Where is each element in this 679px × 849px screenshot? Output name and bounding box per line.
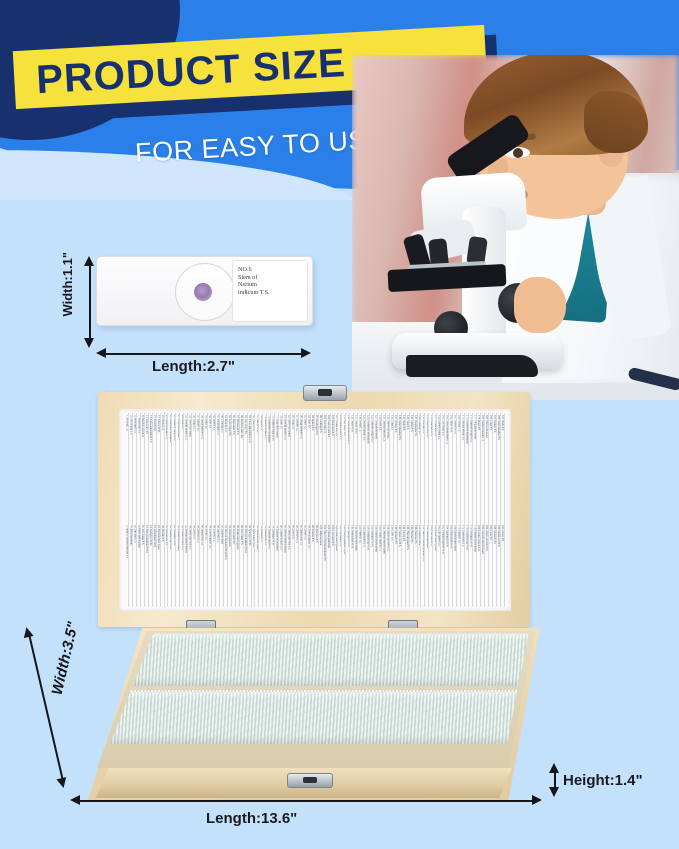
lid-list-entry: 120. Planaria T.S. [358,525,361,607]
lid-list-entry-text: 124. Housefly leg W.M. [366,525,369,550]
slide-label-line-2: Stem of [238,274,303,282]
lid-list-entry-text: 121. Ascaris female T.S. [362,415,365,440]
lid-list-entry-text: 119. Hydra L.S. [358,415,361,432]
slide-row-1 [88,634,540,686]
lid-list-entry: 73. Honeybee mouthparts [267,415,270,509]
lid-list-entry: 131. Skeletal muscle L.S. [382,415,385,509]
product-size-infographic: PRODUCT SIZE FOR EASY TO USE [0,0,679,849]
lid-list-entry: 117. Mucor W.M. [354,415,357,509]
lid-list-entry: 172. Earthworm T.S. [461,525,464,607]
lid-list-entry-text: 42. Ovary T.S. [204,525,207,540]
lid-list-entry: 23. Honeybee mouthparts [168,415,171,509]
lid-list-entry: 53. Leaf of pine T.S. [228,415,231,509]
lid-list-entry: 61. Lily ovary T.S. [244,415,247,509]
lid-list-entry-text: 26. Mosquito W.M. [172,525,175,546]
lid-list-entry: 90. Spinal cord T.S. [299,525,302,607]
lid-list-entry-text: 171. Ascaris female T.S. [461,415,464,440]
lid-list-entry: 96. Trachea T.S. [311,525,314,607]
lid-list-entry-text: 63. Moss antheridium L.S. [248,415,251,443]
lid-list-entry: 24. Housefly leg W.M. [168,525,171,607]
lid-list-entry: 149. Cartilage T.S. [418,415,421,509]
lid-list-entry: 5. Bean stem T.S. [133,415,136,509]
lid-list-entry-text: 137. Kidney T.S. [394,415,397,433]
lid-list-entry: 164. Spirogyra W.M. [445,525,448,607]
lid-list-entry: 58. Potato starch grains [236,525,239,607]
lid-list-entry: 44. Thyroid gland T.S. [208,525,211,607]
lid-list-entry: 98. Pancreas T.S. [315,525,318,607]
lid-list-entry-text: 74. Housefly leg W.M. [267,525,270,549]
lid-list-entry: 178. Human blood smear [473,525,476,607]
box-length-label: Length:13.6" [206,810,297,827]
lid-list-entry: 51. Root tip L.S. [224,415,227,509]
lid-list-entry-text: 162. Fern prothallium W.M. [441,525,444,555]
lid-list-entry: 112. Fern prothallium W.M. [342,525,345,607]
lid-list-entry: 60. Lily anther T.S. [240,525,243,607]
lid-list-entry: 127. Frog blood smear [374,415,377,509]
lid-list-entry: 76. Mosquito W.M. [271,525,274,607]
lid-list-entry: 52. Stem of Nerium indicum T.S. [224,525,227,607]
lid-list-entry-text: 157. Wheat leaf T.S. [433,415,436,436]
lid-list-entry: 59. Bamboo stem T.S. [240,415,243,509]
lid-list-entry: 179. Bone T.S. [477,415,480,509]
lid-list-entry: 28. Human blood smear [176,525,179,607]
lid-list-entry-text: 143. Skin T.S. [406,415,409,430]
lid-list-entry-text: 76. Mosquito W.M. [271,525,274,546]
lid-list-entry-text: 146. Trachea T.S. [410,525,413,543]
lid-list-entry: 78. Human blood smear [275,525,278,607]
lid-clasp [303,385,347,401]
box-length-arrow [70,795,542,806]
lid-list-column: 191. Testis T.S.192. Ovary T.S. [501,413,505,607]
lid-list-entry: 45. Spleen T.S. [212,415,215,509]
lid-list-entry: 147. Esophagus T.S. [414,415,417,509]
lid-list-entry-text: 62. Fern prothallium W.M. [244,525,247,553]
lid-list-entry-text: 51. Root tip L.S. [224,415,227,432]
lid-list-entry-text: 110. Lily anther T.S. [338,525,341,546]
lid-list-entry: 2. Stem of Nerium indicum T.S. [125,525,128,607]
lid-list-entry: 7. Wheat leaf T.S. [137,415,140,509]
lid-list-entry-text: 84. Artery and vein T.S. [287,525,290,550]
lid-list-entry-text: 36. Liver T.S. [192,525,195,539]
lid-list-entry-text: 5. Bean stem T.S. [133,415,136,433]
lid-list-entry-text: 138. Stomach T.S. [394,525,397,544]
lid-list-entry-text: 127. Frog blood smear [374,415,377,439]
lid-list-entry: 102. Stem of Nerium indicum T.S. [323,525,326,607]
lid-list-entry: 167. Mucor W.M. [453,415,456,509]
lid-list-entry: 42. Ovary T.S. [204,525,207,607]
lid-list-entry: 99. Cartilage T.S. [319,415,322,509]
lid-list-entry: 34. Artery and vein T.S. [188,525,191,607]
lid-list-entry: 95. Spleen T.S. [311,415,314,509]
lid-list-entry-text: 145. Spleen T.S. [410,415,413,432]
lid-list-entry: 116. Penicillium W.M. [350,525,353,607]
lid-list-entry-text: 7. Wheat leaf T.S. [137,415,140,434]
lid-list-entry-text: 175. Butterfly wing W.M. [469,415,472,442]
lid-list-entry: 144. Thyroid gland T.S. [406,525,409,607]
lid-list-entry-text: 165. Yeast W.M. [449,415,452,432]
lid-list-entry: 122. Earthworm T.S. [362,525,365,607]
lid-list-entry-text: 89. Small intestine T.S. [299,415,302,439]
lid-list-entry: 26. Mosquito W.M. [172,525,175,607]
lid-list-entry: 47. Esophagus T.S. [216,415,219,509]
lid-list-entry-text: 4. Onion epidermis [129,525,132,545]
lid-list-entry: 107. Wheat leaf T.S. [335,415,338,509]
lid-list-entry-text: 18. Bacteria three types [157,525,160,549]
lid-list-entry: 30. Cardiac muscle L.S. [180,525,183,607]
lid-list-entry-text: 14. Spirogyra W.M. [149,525,152,546]
lid-list-entry: 145. Spleen T.S. [410,415,413,509]
lid-list-entry: 173. Honeybee mouthparts [465,415,468,509]
lid-list-entry: 185. Lung T.S. [489,415,492,509]
lid-list-entry: 190. Spinal cord T.S. [497,525,500,607]
lid-list-entry-text: 34. Artery and vein T.S. [188,525,191,550]
lid-list-entry: 181. Skeletal muscle L.S. [481,415,484,509]
lid-list-entry: 111. Lily ovary T.S. [342,415,345,509]
lid-list-entry-text: 173. Honeybee mouthparts [465,415,468,444]
lid-list-entry-text: 123. Honeybee mouthparts [366,415,369,444]
lid-list-entry: 170. Planaria T.S. [457,525,460,607]
lid-list-entry: 37. Kidney T.S. [196,415,199,509]
lid-list-entry-text: 184. Artery and vein T.S. [485,525,488,551]
lid-list-entry: 89. Small intestine T.S. [299,415,302,509]
lid-list-entry: 128. Human blood smear [374,525,377,607]
lid-list-entry: 166. Penicillium W.M. [449,525,452,607]
box-lid: 1. Root tip L.S.2. Stem of Nerium indicu… [98,392,530,627]
lid-list-entry: 108. Potato starch grains [335,525,338,607]
lid-list-entry-text: 25. Butterfly wing W.M. [172,415,175,441]
lid-list-entry-text: 144. Thyroid gland T.S. [406,525,409,550]
lid-list-entry-text: 12. Fern prothallium W.M. [145,525,148,553]
lid-list-entry: 49. Cartilage T.S. [220,415,223,509]
lid-list-entry: 109. Bamboo stem T.S. [338,415,341,509]
lid-list-entry-text: 35. Lung T.S. [192,415,195,429]
lid-list-entry-text: 113. Moss antheridium L.S. [346,415,349,444]
lid-list-entry-text: 158. Potato starch grains [433,525,436,551]
lid-list-entry-text: 69. Hydra L.S. [259,415,262,431]
lid-list-entry-text: 54. Onion epidermis [228,525,231,547]
lid-list-entry-text: 13. Moss antheridium L.S. [149,415,152,443]
box-height-arrow [549,763,560,797]
lid-list-entry-text: 59. Bamboo stem T.S. [240,415,243,438]
lid-list-entry-text: 117. Mucor W.M. [354,415,357,434]
lid-list-entry-text: 161. Lily ovary T.S. [441,415,444,436]
lid-list-entry-text: 149. Cartilage T.S. [418,415,421,434]
lid-list-entry: 132. Smooth muscle teased [382,525,385,607]
lid-list-entry-text: 91. Testis T.S. [303,415,306,429]
lid-list-entry: 174. Housefly leg W.M. [465,525,468,607]
lid-list-entry: 4. Onion epidermis [129,525,132,607]
lid-list-entry: 32. Smooth muscle teased [184,525,187,607]
slide-specimen-spot [194,283,212,301]
lid-list-entry: 56. Corn stem T.S. [232,525,235,607]
lid-list-entry-text: 106. Corn stem T.S. [331,525,334,546]
lid-list-entry-text: 107. Wheat leaf T.S. [335,415,338,436]
lid-list-entry-text: 153. Leaf of pine T.S. [425,415,428,438]
lid-list-entry: 65. Yeast W.M. [252,415,255,509]
lid-list-entry: 180. Cardiac muscle L.S. [477,525,480,607]
lid-list-entry: 81. Skeletal muscle L.S. [283,415,286,509]
slide-label-line-1: NO.6 [238,266,303,274]
lid-list-entry: 123. Honeybee mouthparts [366,415,369,509]
lid-list-entry: 124. Housefly leg W.M. [366,525,369,607]
lid-list-entry-text: 2. Stem of Nerium indicum T.S. [125,525,128,559]
lid-list-entry-text: 22. Earthworm T.S. [165,525,168,546]
lid-list-entry: 125. Butterfly wing W.M. [370,415,373,509]
lid-list-entry: 105. Bean stem T.S. [331,415,334,509]
lid-list-entry: 63. Moss antheridium L.S. [248,415,251,509]
lid-list-entry: 36. Liver T.S. [192,525,195,607]
lid-list-entry: 3. Leaf of pine T.S. [129,415,132,509]
lid-list-entry-text: 148. Pancreas T.S. [414,525,417,544]
lid-list-entry: 1. Root tip L.S. [125,415,128,509]
lid-list-entry: 94. Thyroid gland T.S. [307,525,310,607]
lid-list-entry: 66. Penicillium W.M. [252,525,255,607]
lid-list-entry-text: 133. Nerve cell smear [386,415,389,438]
lid-list-entry-text: 38. Stomach T.S. [196,525,199,543]
microscope-foot [406,355,538,377]
lid-list-entry: 97. Esophagus T.S. [315,415,318,509]
lid-list-entry: 79. Bone T.S. [279,415,282,509]
lid-list-entry: 72. Earthworm T.S. [263,525,266,607]
lid-list-entry-text: 9. Bamboo stem T.S. [141,415,144,437]
lid-list-entry: 114. Spirogyra W.M. [346,525,349,607]
lid-list-entry-text: 93. Skin T.S. [307,415,310,428]
lid-list-entry-text: 105. Bean stem T.S. [331,415,334,436]
lid-list-entry-text: 70. Planaria T.S. [259,525,262,542]
lid-list-entry-text: 57. Wheat leaf T.S. [236,415,239,435]
lid-list-entry-text: 192. Ovary T.S. [501,525,504,542]
lid-list-entry: 110. Lily anther T.S. [338,525,341,607]
lid-list-entry: 141. Testis T.S. [402,415,405,509]
lid-list-entry: 71. Ascaris female T.S. [263,415,266,509]
lid-list-entry: 115. Yeast W.M. [350,415,353,509]
lid-list-entry-text: 55. Bean stem T.S. [232,415,235,435]
lid-list-entry-text: 48. Pancreas T.S. [216,525,219,543]
lid-list-entry-text: 134. Artery and vein T.S. [386,525,389,551]
slide-row-2 [88,692,540,744]
lid-list-entry-text: 32. Smooth muscle teased [184,525,187,553]
lid-list-entry-text: 125. Butterfly wing W.M. [370,415,373,442]
lid-list-entry-text: 10. Lily anther T.S. [141,525,144,545]
lid-list-entry-text: 29. Bone T.S. [180,415,183,429]
lid-list-entry-text: 86. Liver T.S. [291,525,294,539]
lid-list-entry-text: 11. Lily ovary T.S. [145,415,148,434]
lid-list-entry-text: 17. Mucor W.M. [157,415,160,433]
lid-list-entry-text: 176. Mosquito W.M. [469,525,472,547]
lid-list-entry-text: 31. Skeletal muscle L.S. [184,415,187,440]
lid-list-entry: 88. Stomach T.S. [295,525,298,607]
lid-list-entry-text: 73. Honeybee mouthparts [267,415,270,442]
lid-list-entry: 82. Smooth muscle teased [283,525,286,607]
lid-list-entry: 57. Wheat leaf T.S. [236,415,239,509]
lid-list-entry-text: 131. Skeletal muscle L.S. [382,415,385,442]
lid-list-entry-text: 21. Ascaris female T.S. [165,415,168,439]
lid-list-entry-text: 33. Nerve cell smear [188,415,191,437]
slide-label-line-4: indicum T.S. [238,289,303,297]
lid-list-entry: 83. Nerve cell smear [287,415,290,509]
lid-list-entry: 151. Root tip L.S. [421,415,424,509]
lid-list-entry-text: 151. Root tip L.S. [421,415,424,434]
lid-list-entry: 189. Small intestine T.S. [497,415,500,509]
lid-list-entry: 54. Onion epidermis [228,525,231,607]
lid-list-entry: 19. Hydra L.S. [161,415,164,509]
lid-list-entry-text: 163. Moss antheridium L.S. [445,415,448,444]
lid-list-entry: 154. Onion epidermis [425,525,428,607]
lid-list-entry: 157. Wheat leaf T.S. [433,415,436,509]
lid-list-entry: 15. Yeast W.M. [153,415,156,509]
lid-list-entry-text: 142. Ovary T.S. [402,525,405,542]
lid-list-entry: 104. Onion epidermis [327,525,330,607]
lid-list-entry: 140. Spinal cord T.S. [398,525,401,607]
lid-list-entry-text: 67. Mucor W.M. [255,415,258,433]
lid-list-entry-text: 39. Small intestine T.S. [200,415,203,439]
lid-list-entry-text: 141. Testis T.S. [402,415,405,431]
lid-list-entry-text: 188. Stomach T.S. [493,525,496,544]
lid-list-entry: 80. Cardiac muscle L.S. [279,525,282,607]
lid-list-entry: 69. Hydra L.S. [259,415,262,509]
lid-list-entry-text: 6. Corn stem T.S. [133,525,136,543]
lid-list-entry: 77. Frog blood smear [275,415,278,509]
lid-list-entry-text: 41. Testis T.S. [204,415,207,429]
lid-list-entry-text: 156. Corn stem T.S. [429,525,432,546]
lid-list-entry-text: 92. Ovary T.S. [303,525,306,540]
lid-list-entry: 176. Mosquito W.M. [469,525,472,607]
lid-list-entry-text: 102. Stem of Nerium indicum T.S. [323,525,326,561]
lid-list-entry-text: 65. Yeast W.M. [252,415,255,431]
lid-list-entry-text: 71. Ascaris female T.S. [263,415,266,439]
photo-pupil [513,148,523,158]
lid-list-entry-text: 139. Small intestine T.S. [398,415,401,440]
lid-list-entry: 113. Moss antheridium L.S. [346,415,349,509]
lid-list-entry: 148. Pancreas T.S. [414,525,417,607]
lid-list-entry-text: 24. Housefly leg W.M. [168,525,171,549]
lid-list-entry: 135. Lung T.S. [390,415,393,509]
lid-list-entry-text: 44. Thyroid gland T.S. [208,525,211,548]
lid-list-entry-text: 174. Housefly leg W.M. [465,525,468,550]
lid-list-entry: 64. Spirogyra W.M. [248,525,251,607]
lid-list-entry: 143. Skin T.S. [406,415,409,509]
lid-list-entry-text: 49. Cartilage T.S. [220,415,223,433]
lid-list-entry-text: 46. Trachea T.S. [212,525,215,542]
lid-list-entry-text: 126. Mosquito W.M. [370,525,373,547]
lid-list-entry-text: 52. Stem of Nerium indicum T.S. [224,525,227,560]
lid-list-entry: 46. Trachea T.S. [212,525,215,607]
lid-list-entry-text: 185. Lung T.S. [489,415,492,431]
slide-width-arrow [84,256,95,348]
lid-list-entry: 171. Ascaris female T.S. [461,415,464,509]
lid-list-entry-text: 108. Potato starch grains [335,525,338,551]
lid-list-entry-text: 90. Spinal cord T.S. [299,525,302,545]
lid-list-entry-text: 68. Bacteria three types [255,525,258,549]
lid-list-entry: 103. Leaf of pine T.S. [327,415,330,509]
lid-list-entry: 175. Butterfly wing W.M. [469,415,472,509]
lid-list-entry: 27. Frog blood smear [176,415,179,509]
lid-list-entry: 152. Stem of Nerium indicum T.S. [421,525,424,607]
lid-list-entry: 25. Butterfly wing W.M. [172,415,175,509]
lid-list-entry: 40. Spinal cord T.S. [200,525,203,607]
lid-list-entry: 62. Fern prothallium W.M. [244,525,247,607]
lid-list-entry: 186. Liver T.S. [489,525,492,607]
lid-list-entry-text: 82. Smooth muscle teased [283,525,286,553]
lid-list-entry-text: 182. Smooth muscle teased [481,525,484,554]
lid-list-entry-text: 100. Adipose tissue [319,525,322,545]
lid-index-sheet: 1. Root tip L.S.2. Stem of Nerium indicu… [119,409,511,611]
lid-list-entry: 161. Lily ovary T.S. [441,415,444,509]
lid-list-entry-text: 183. Nerve cell smear [485,415,488,438]
lid-list-entry-text: 87. Kidney T.S. [295,415,298,431]
lid-list-entry: 162. Fern prothallium W.M. [441,525,444,607]
lid-list-entry: 137. Kidney T.S. [394,415,397,509]
lid-list-entry: 85. Lung T.S. [291,415,294,509]
lid-list-entry-text: 189. Small intestine T.S. [497,415,500,440]
lid-list-entry-text: 37. Kidney T.S. [196,415,199,431]
lid-list-entry: 146. Trachea T.S. [410,525,413,607]
lid-list-entry-text: 166. Penicillium W.M. [449,525,452,549]
lid-list-entry: 183. Nerve cell smear [485,415,488,509]
lid-list-entry: 70. Planaria T.S. [259,525,262,607]
lid-list-entry: 17. Mucor W.M. [157,415,160,509]
lid-list-entry-text: 60. Lily anther T.S. [240,525,243,545]
slide-length-label: Length:2.7" [152,358,235,375]
lid-list-entry-text: 130. Cardiac muscle L.S. [378,525,381,551]
lid-list-entry-text: 103. Leaf of pine T.S. [327,415,330,438]
lid-list-entry-text: 150. Adipose tissue [418,525,421,545]
lid-list-entry: 188. Stomach T.S. [493,525,496,607]
lid-list-entry: 43. Skin T.S. [208,415,211,509]
lid-list-entry-text: 40. Spinal cord T.S. [200,525,203,545]
lid-list-entry-text: 116. Penicillium W.M. [350,525,353,549]
lid-list-entry-text: 160. Lily anther T.S. [437,525,440,546]
lid-list-entry-text: 191. Testis T.S. [501,415,504,431]
lid-list-entry: 35. Lung T.S. [192,415,195,509]
lid-list-entry-text: 104. Onion epidermis [327,525,330,548]
lid-list-entry-text: 152. Stem of Nerium indicum T.S. [421,525,424,561]
lid-list-entry: 91. Testis T.S. [303,415,306,509]
lid-list-entry-text: 58. Potato starch grains [236,525,239,549]
lid-list-entry-text: 168. Bacteria three types [453,525,456,551]
lid-list-entry: 13. Moss antheridium L.S. [149,415,152,509]
lid-list-entry: 182. Smooth muscle teased [481,525,484,607]
lid-list-entry-text: 81. Skeletal muscle L.S. [283,415,286,440]
lid-list-entry: 21. Ascaris female T.S. [165,415,168,509]
lid-list-entry-text: 96. Trachea T.S. [311,525,314,542]
lid-list-entry-text: 159. Bamboo stem T.S. [437,415,440,440]
lid-list-entry-text: 50. Adipose tissue [220,525,223,544]
lid-list-entry: 55. Bean stem T.S. [232,415,235,509]
lid-list-entry-text: 187. Kidney T.S. [493,415,496,433]
lid-list-entry: 153. Leaf of pine T.S. [425,415,428,509]
lid-list-entry: 177. Frog blood smear [473,415,476,509]
lid-list-entry: 169. Hydra L.S. [457,415,460,509]
lid-list-entry: 87. Kidney T.S. [295,415,298,509]
lid-list-entry-text: 155. Bean stem T.S. [429,415,432,436]
lid-specimen-list: 1. Root tip L.S.2. Stem of Nerium indicu… [125,413,505,607]
lid-list-entry: 163. Moss antheridium L.S. [445,415,448,509]
lid-list-entry-text: 129. Bone T.S. [378,415,381,431]
lid-list-entry-text: 164. Spirogyra W.M. [445,525,448,547]
lid-list-entry-text: 109. Bamboo stem T.S. [338,415,341,440]
box-height-label: Height:1.4" [563,772,643,789]
lid-list-entry-text: 122. Earthworm T.S. [362,525,365,547]
lid-list-entry-text: 115. Yeast W.M. [350,415,353,432]
lid-list-entry: 9. Bamboo stem T.S. [141,415,144,509]
lid-list-entry-text: 154. Onion epidermis [425,525,428,548]
lid-list-entry: 184. Artery and vein T.S. [485,525,488,607]
lid-list-entry-text: 30. Cardiac muscle L.S. [180,525,183,550]
lid-list-entry: 38. Stomach T.S. [196,525,199,607]
lid-list-entry-text: 177. Frog blood smear [473,415,476,439]
lid-list-entry-text: 1. Root tip L.S. [125,415,128,431]
